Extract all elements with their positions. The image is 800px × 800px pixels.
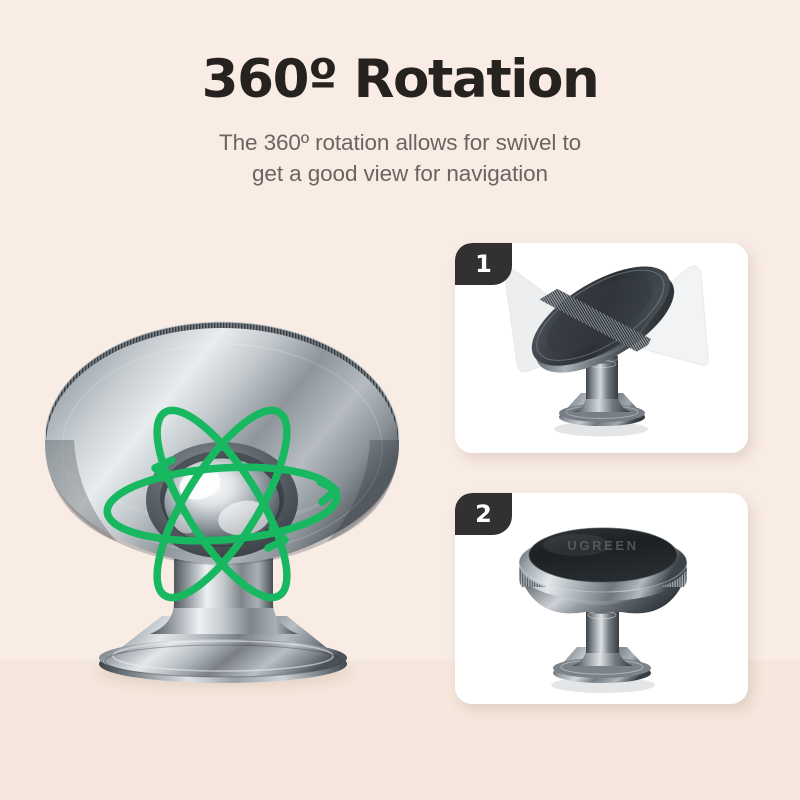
subtitle-line-2: get a good view for navigation bbox=[0, 158, 800, 189]
feature-card-2[interactable]: 2 bbox=[455, 493, 748, 704]
feature-card-1[interactable]: 1 bbox=[455, 243, 748, 453]
card-2-badge: 2 bbox=[455, 493, 512, 535]
hero-product-image bbox=[22, 272, 422, 692]
page-title: 360º Rotation bbox=[0, 52, 800, 108]
ugreen-brand-text: UGREEN bbox=[567, 538, 638, 553]
card-1-badge: 1 bbox=[455, 243, 512, 285]
header: 360º Rotation The 360º rotation allows f… bbox=[0, 52, 800, 189]
card-2-magnet-pad: UGREEN bbox=[529, 528, 677, 582]
subtitle-line-1: The 360º rotation allows for swivel to bbox=[0, 127, 800, 158]
page-subtitle: The 360º rotation allows for swivel to g… bbox=[0, 127, 800, 189]
